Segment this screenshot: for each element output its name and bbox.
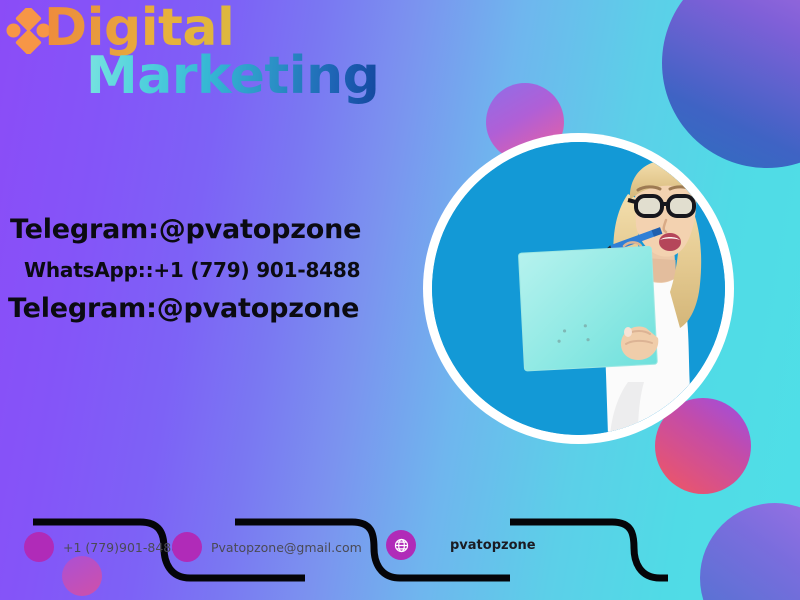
globe-icon (386, 530, 416, 560)
phone-icon (24, 532, 54, 562)
brand-logo: Digital Marketing (0, 0, 420, 115)
footer-item-website[interactable]: pvatopzone (386, 530, 536, 560)
contact-whatsapp: WhatsApp::+1 (779) 901-8488 (0, 258, 430, 282)
hero-woman-photo (432, 142, 725, 435)
footer-website-text: pvatopzone (425, 538, 536, 553)
footer-email-text: Pvatopzone@gmail.com (211, 540, 362, 555)
footer-contact-bar: +1 (779)901-8488 Pvatopzone@gmail.com pv… (0, 500, 800, 600)
contact-block: Telegram:@pvatopzone WhatsApp::+1 (779) … (0, 214, 430, 324)
footer-phone-text: +1 (779)901-8488 (63, 540, 179, 555)
hero-photo-circle (423, 133, 734, 444)
hero-blue-disc (432, 142, 725, 435)
footer-item-phone[interactable]: +1 (779)901-8488 (24, 532, 179, 562)
contact-telegram-primary: Telegram:@pvatopzone (0, 214, 430, 245)
email-icon (172, 532, 202, 562)
brand-title-line2: Marketing (86, 46, 379, 106)
footer-item-email[interactable]: Pvatopzone@gmail.com (172, 532, 362, 562)
contact-telegram-secondary: Telegram:@pvatopzone (0, 293, 430, 324)
